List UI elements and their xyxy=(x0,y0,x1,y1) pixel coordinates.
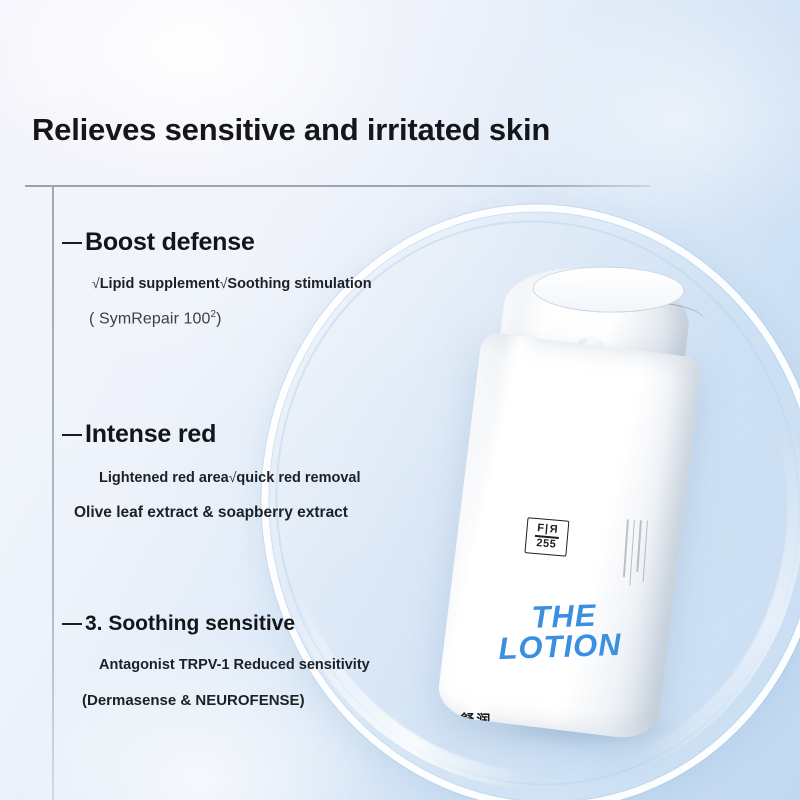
brand-logo: F|R 255 xyxy=(524,517,569,557)
dash-marker-icon xyxy=(62,242,82,244)
divider-vertical xyxy=(52,186,54,800)
dash-marker-icon xyxy=(62,623,82,625)
feature-benefit-1: Lightened red area xyxy=(99,470,229,486)
product-bottle: F|R 255 THE LOTION 舒润 精华乳 净含量 50ml xyxy=(419,254,724,751)
divider-horizontal xyxy=(25,185,650,187)
feature-heading: Boost defense xyxy=(62,228,372,257)
feature-block-boost-defense: Boost defense √Lipid supplement√Soothing… xyxy=(62,228,372,328)
brand-logo-number: 255 xyxy=(536,538,557,551)
feature-subtitle: Antagonist TRPV-1 Reduced sensitivity xyxy=(99,657,370,673)
feature-note: Olive leaf extract & soapberry extract xyxy=(74,504,361,522)
feature-subtitle: Lightened red area√quick red removal xyxy=(99,469,361,486)
feature-block-soothing-sensitive: 3. Soothing sensitive Antagonist TRPV-1 … xyxy=(62,612,370,709)
feature-block-intense-red: Intense red Lightened red area√quick red… xyxy=(62,420,361,522)
product-banner: F|R 255 THE LOTION 舒润 精华乳 净含量 50ml Relie… xyxy=(0,0,800,800)
brand-logo-letter-right: R xyxy=(549,524,559,536)
feature-subtitle: √Lipid supplement√Soothing stimulation xyxy=(92,275,372,292)
bottle-fine-print xyxy=(622,519,648,586)
feature-note: ( SymRepair 1002) xyxy=(89,309,372,328)
feature-benefit-1: Lipid supplement xyxy=(100,276,220,292)
feature-benefit-2: quick red removal xyxy=(236,470,360,486)
feature-heading: Intense red xyxy=(62,420,361,449)
feature-title: 3. Soothing sensitive xyxy=(85,612,295,636)
page-title: Relieves sensitive and irritated skin xyxy=(32,112,550,148)
feature-title: Intense red xyxy=(85,420,216,449)
feature-benefit-2: Soothing stimulation xyxy=(227,276,371,292)
feature-title: Boost defense xyxy=(85,228,255,257)
dash-marker-icon xyxy=(62,434,82,436)
product-name: THE LOTION xyxy=(474,599,656,665)
feature-note: (Dermasense & NEUROFENSE) xyxy=(82,692,370,709)
check-icon: √ xyxy=(92,275,100,291)
feature-heading: 3. Soothing sensitive xyxy=(62,612,370,636)
bottle-body: F|R 255 THE LOTION 舒润 精华乳 净含量 50ml xyxy=(435,332,702,742)
feature-note-close: ) xyxy=(216,310,221,327)
product-name-line2: LOTION xyxy=(465,628,656,664)
brand-logo-mark: F|R xyxy=(537,523,559,536)
feature-note-open: ( SymRepair 100 xyxy=(89,310,211,327)
